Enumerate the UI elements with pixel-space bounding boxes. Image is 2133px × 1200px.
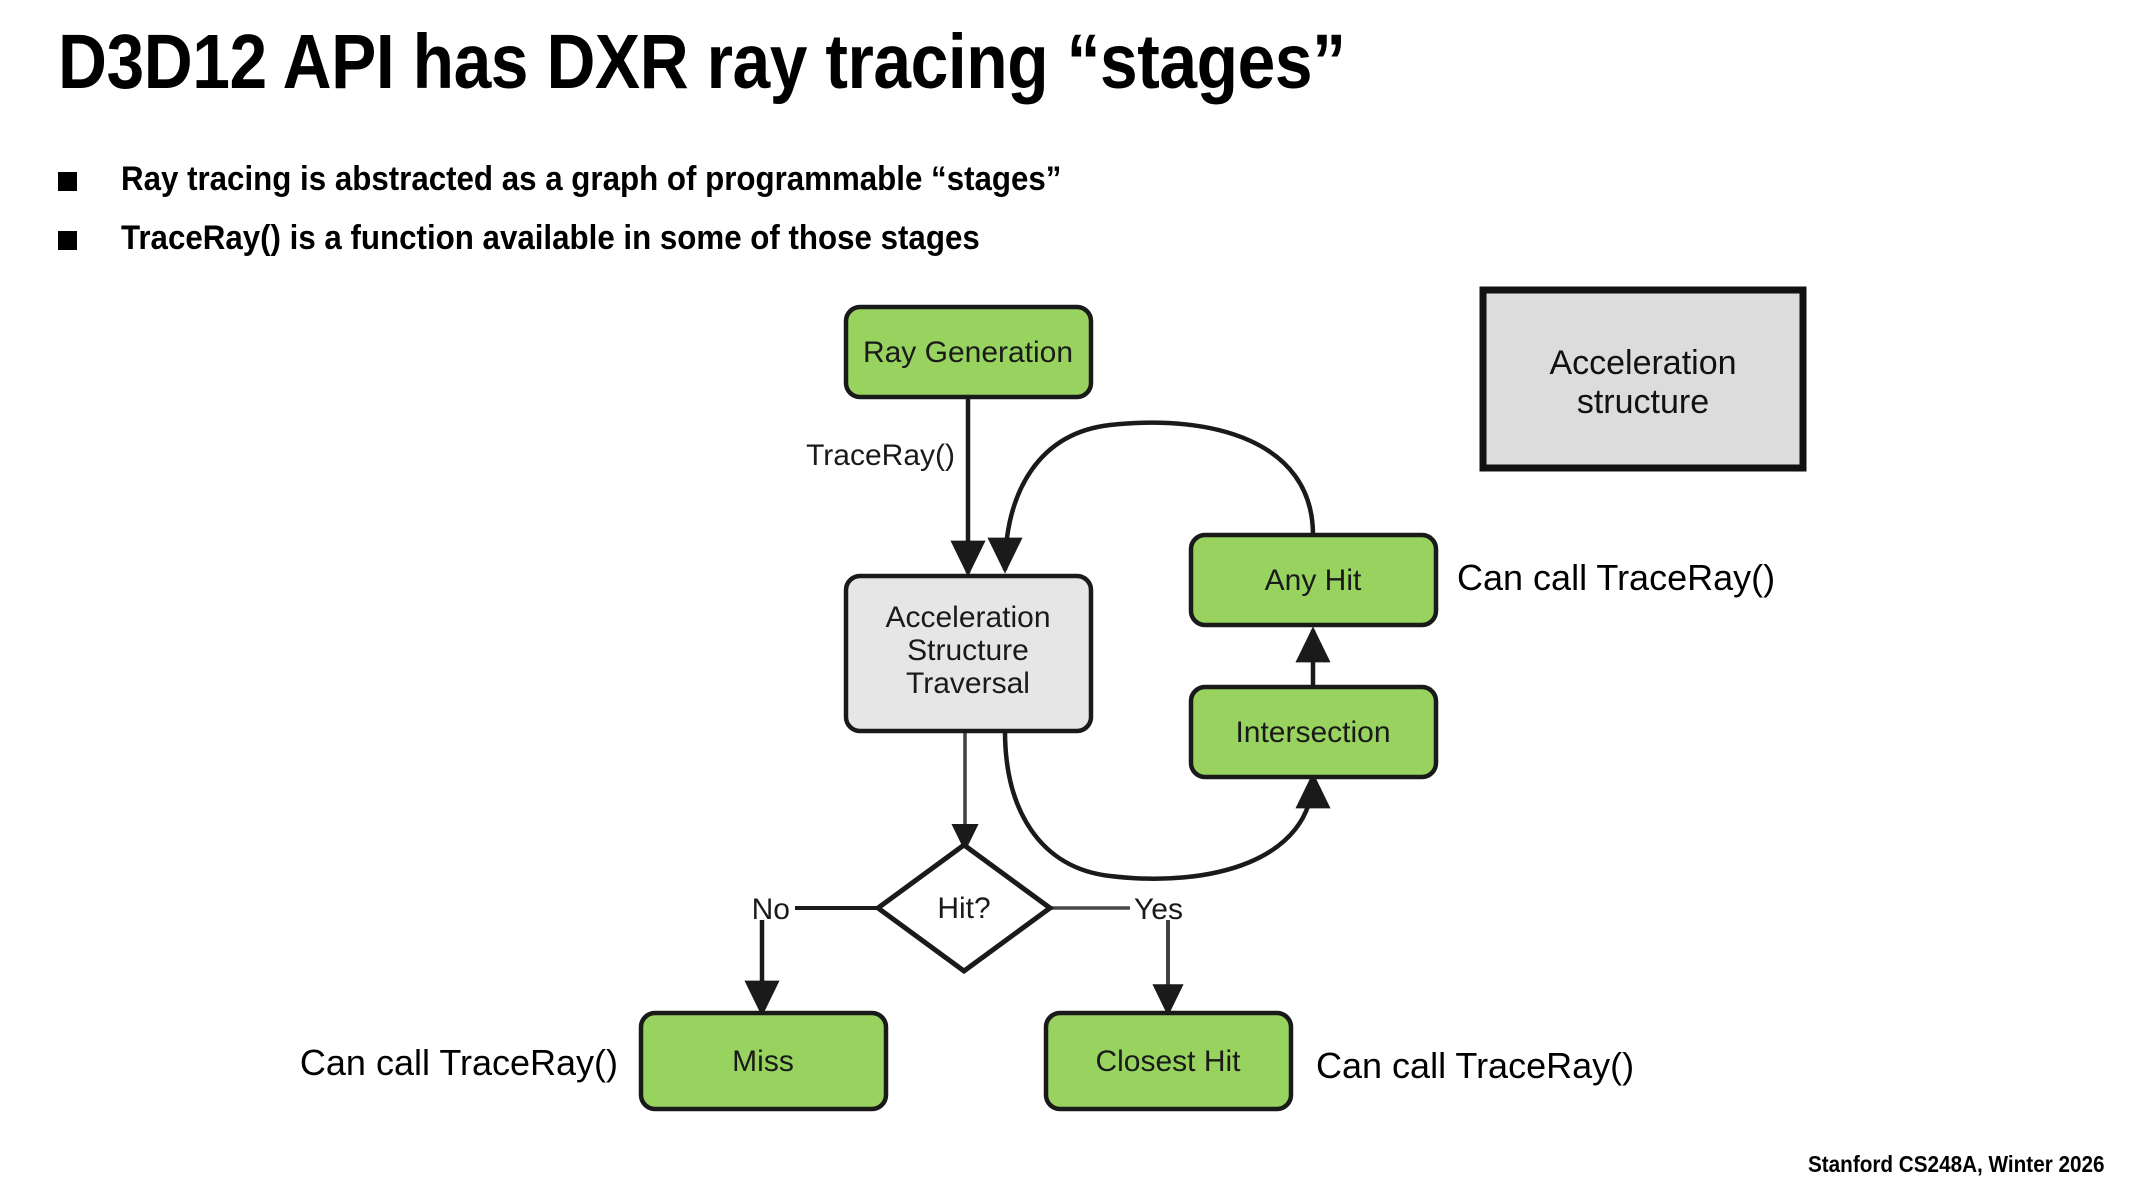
node-any-hit[interactable]: Any Hit (1191, 535, 1436, 625)
node-hit-decision-label: Hit? (937, 892, 990, 925)
node-miss[interactable]: Miss (641, 1013, 886, 1109)
node-ray-generation[interactable]: Ray Generation (846, 307, 1091, 397)
node-acceleration-structure[interactable]: Acceleration structure (1483, 290, 1803, 468)
node-closest-hit[interactable]: Closest Hit (1046, 1013, 1291, 1109)
node-traversal-label-line1: Acceleration (885, 601, 1050, 634)
annotation-miss-note: Can call TraceRay() (300, 1042, 618, 1083)
node-ray-generation-label: Ray Generation (863, 336, 1073, 369)
node-acceleration-structure-traversal[interactable]: Acceleration Structure Traversal (846, 576, 1091, 731)
edge-label-no: No (752, 893, 790, 926)
node-miss-label: Miss (732, 1045, 794, 1078)
node-traversal-label-line3: Traversal (906, 667, 1030, 700)
edge-label-trace-ray: TraceRay() (806, 439, 955, 472)
node-intersection[interactable]: Intersection (1191, 687, 1436, 777)
node-acceleration-structure-label-line2: structure (1577, 383, 1709, 421)
ray-tracing-stage-diagram: Ray Generation Acceleration Structure Tr… (0, 0, 2133, 1200)
node-closest-hit-label: Closest Hit (1095, 1045, 1241, 1078)
node-any-hit-label: Any Hit (1265, 564, 1362, 597)
node-intersection-label: Intersection (1235, 716, 1390, 749)
slide-footer: Stanford CS248A, Winter 2026 (1808, 1151, 2105, 1178)
annotation-closest-hit-note: Can call TraceRay() (1316, 1045, 1634, 1086)
node-hit-decision[interactable]: Hit? (878, 845, 1050, 971)
edge-label-yes: Yes (1134, 893, 1183, 926)
annotation-any-hit-note: Can call TraceRay() (1457, 557, 1775, 598)
node-traversal-label-line2: Structure (907, 634, 1029, 667)
node-acceleration-structure-label-line1: Acceleration (1549, 344, 1736, 382)
